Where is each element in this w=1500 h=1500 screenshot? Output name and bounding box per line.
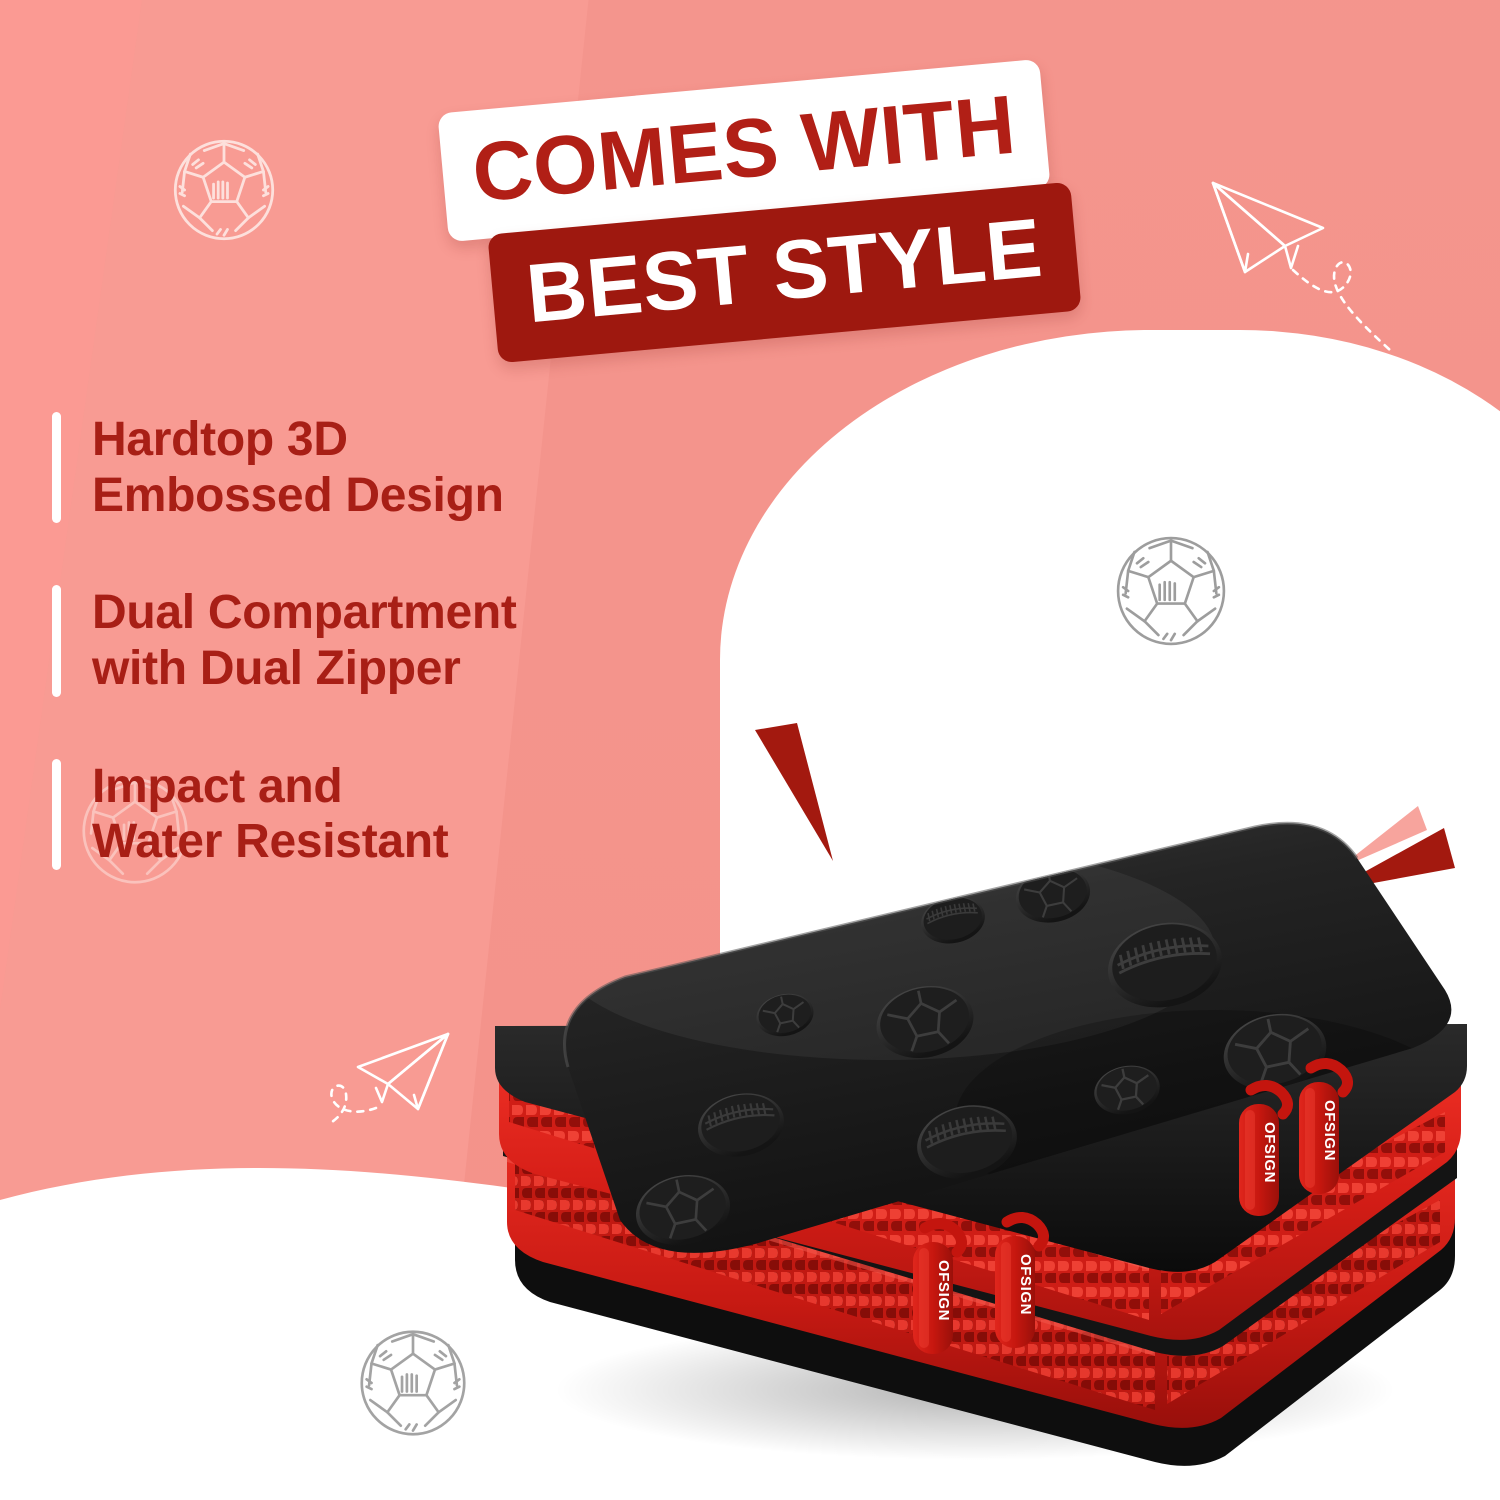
poster-canvas: COMES WITH BEST STYLE Hardtop 3D Embosse… [0,0,1500,1500]
feature-label-3: Impact and Water Resistant [92,759,449,870]
zipper-pull-label: OFSIGN [1321,1100,1338,1161]
product-image: OFSIGN OFSIGN OFSIGN OFSIGN [455,790,1475,1480]
feature-label-1: Hardtop 3D Embossed Design [92,412,504,523]
feature-item-1: Hardtop 3D Embossed Design [52,412,692,523]
soccer-ball-watermark-blob [1108,528,1234,654]
feature-bar-icon [52,585,61,696]
feature-label-2: Dual Compartment with Dual Zipper [92,585,517,696]
feature-bar-icon [52,412,61,523]
zipper-pull-label: OFSIGN [1017,1254,1034,1315]
soccer-ball-watermark-topleft [166,132,282,248]
zipper-pull-label: OFSIGN [935,1260,952,1321]
headline-block: COMES WITH BEST STYLE [430,62,1070,342]
zipper-pull-label: OFSIGN [1261,1122,1278,1183]
feature-item-2: Dual Compartment with Dual Zipper [52,585,692,696]
feature-bar-icon [52,759,61,870]
